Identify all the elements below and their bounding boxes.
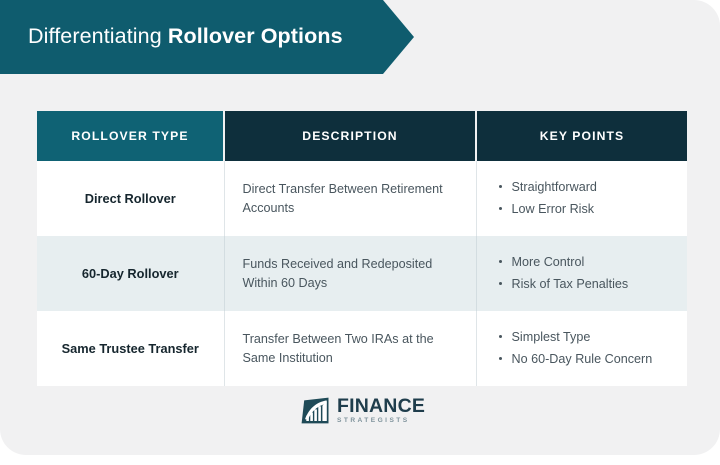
rollover-comparison-table: ROLLOVER TYPE DESCRIPTION KEY POINTS Dir…: [37, 111, 687, 386]
cell-description: Funds Received and Redeposited Within 60…: [224, 236, 476, 311]
logo-wordmark: FINANCE STRATEGISTS: [337, 397, 425, 425]
list-item: Straightforward: [499, 179, 674, 197]
key-points-list: Simplest Type No 60-Day Rule Concern: [499, 329, 674, 369]
finance-strategists-logo-icon: [301, 397, 332, 426]
page-title-regular: Differentiating: [28, 24, 168, 48]
list-item: Simplest Type: [499, 329, 674, 347]
column-header-description: DESCRIPTION: [224, 111, 476, 161]
infographic-page: Differentiating Rollover Options ROLLOVE…: [0, 0, 720, 465]
cell-rollover-type: Direct Rollover: [37, 161, 224, 236]
logo-word-strategists: STRATEGISTS: [337, 418, 425, 425]
column-header-key-points: KEY POINTS: [476, 111, 687, 161]
key-points-list: More Control Risk of Tax Penalties: [499, 254, 674, 294]
page-title-bold: Rollover Options: [168, 24, 343, 48]
table-body: Direct Rollover Direct Transfer Between …: [37, 161, 687, 386]
column-header-rollover-type: ROLLOVER TYPE: [37, 111, 224, 161]
table-row: Direct Rollover Direct Transfer Between …: [37, 161, 687, 236]
cell-key-points: More Control Risk of Tax Penalties: [476, 236, 687, 311]
cell-key-points: Simplest Type No 60-Day Rule Concern: [476, 311, 687, 386]
brand-logo: FINANCE STRATEGISTS: [301, 396, 425, 426]
list-item: Risk of Tax Penalties: [499, 276, 674, 294]
list-item: No 60-Day Rule Concern: [499, 351, 674, 369]
list-item: Low Error Risk: [499, 201, 674, 219]
cell-description: Transfer Between Two IRAs at the Same In…: [224, 311, 476, 386]
table-row: Same Trustee Transfer Transfer Between T…: [37, 311, 687, 386]
key-points-list: Straightforward Low Error Risk: [499, 179, 674, 219]
cell-key-points: Straightforward Low Error Risk: [476, 161, 687, 236]
page-title: Differentiating Rollover Options: [0, 26, 343, 48]
cell-description: Direct Transfer Between Retirement Accou…: [224, 161, 476, 236]
table-header-row: ROLLOVER TYPE DESCRIPTION KEY POINTS: [37, 111, 687, 161]
cell-rollover-type: 60-Day Rollover: [37, 236, 224, 311]
cell-rollover-type: Same Trustee Transfer: [37, 311, 224, 386]
header-banner: Differentiating Rollover Options: [0, 0, 414, 74]
table-header: ROLLOVER TYPE DESCRIPTION KEY POINTS: [37, 111, 687, 161]
logo-word-finance: FINANCE: [337, 397, 425, 417]
list-item: More Control: [499, 254, 674, 272]
table-row: 60-Day Rollover Funds Received and Redep…: [37, 236, 687, 311]
